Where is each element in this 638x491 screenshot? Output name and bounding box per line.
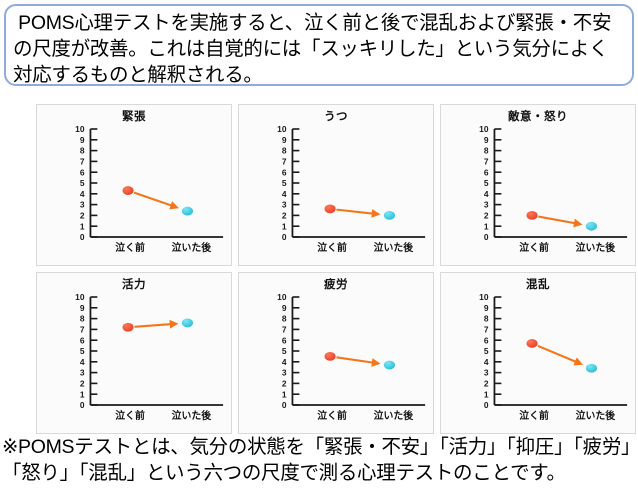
svg-text:10: 10 xyxy=(75,124,85,134)
svg-text:9: 9 xyxy=(80,135,85,145)
svg-text:10: 10 xyxy=(479,124,489,134)
svg-text:4: 4 xyxy=(282,189,287,199)
svg-text:8: 8 xyxy=(484,314,489,324)
svg-text:9: 9 xyxy=(282,135,287,145)
svg-text:5: 5 xyxy=(282,346,287,356)
chart-panel-hostility-anger: 敵意・怒り 109876543210泣く前泣いた後 xyxy=(440,104,636,266)
svg-text:1: 1 xyxy=(80,389,85,399)
svg-text:3: 3 xyxy=(282,368,287,378)
svg-text:10: 10 xyxy=(75,292,85,302)
svg-text:5: 5 xyxy=(484,346,489,356)
svg-text:8: 8 xyxy=(80,146,85,156)
svg-text:4: 4 xyxy=(484,357,489,367)
svg-text:8: 8 xyxy=(282,146,287,156)
svg-text:7: 7 xyxy=(80,156,85,166)
svg-text:2: 2 xyxy=(484,378,489,388)
svg-text:泣く前: 泣く前 xyxy=(317,409,347,422)
svg-text:10: 10 xyxy=(277,124,287,134)
svg-text:2: 2 xyxy=(282,210,287,220)
svg-text:0: 0 xyxy=(484,232,489,242)
svg-text:9: 9 xyxy=(484,303,489,313)
svg-text:6: 6 xyxy=(282,335,287,345)
svg-text:3: 3 xyxy=(80,368,85,378)
svg-text:3: 3 xyxy=(80,200,85,210)
footer-note: ※POMSテストとは、気分の状態を「緊張・不安」「活力」「抑圧」「疲労」「怒り」… xyxy=(2,434,636,486)
svg-text:6: 6 xyxy=(80,335,85,345)
svg-text:6: 6 xyxy=(282,167,287,177)
svg-text:2: 2 xyxy=(80,378,85,388)
svg-text:7: 7 xyxy=(80,324,85,334)
svg-text:0: 0 xyxy=(80,232,85,242)
svg-text:5: 5 xyxy=(282,178,287,188)
svg-text:泣く前: 泣く前 xyxy=(519,409,549,422)
svg-text:2: 2 xyxy=(80,210,85,220)
svg-text:6: 6 xyxy=(80,167,85,177)
svg-text:5: 5 xyxy=(484,178,489,188)
svg-text:10: 10 xyxy=(277,292,287,302)
svg-text:泣いた後: 泣いた後 xyxy=(172,241,213,254)
svg-text:8: 8 xyxy=(282,314,287,324)
svg-text:8: 8 xyxy=(484,146,489,156)
svg-text:0: 0 xyxy=(282,400,287,410)
svg-text:泣く前: 泣く前 xyxy=(519,241,549,254)
svg-text:6: 6 xyxy=(484,167,489,177)
svg-text:0: 0 xyxy=(484,400,489,410)
svg-text:1: 1 xyxy=(484,389,489,399)
svg-text:泣く前: 泣く前 xyxy=(115,241,145,254)
svg-text:1: 1 xyxy=(282,221,287,231)
chart-panel-fatigue: 疲労 109876543210泣く前泣いた後 xyxy=(238,272,434,434)
chart-plot-area: 109876543210泣く前泣いた後 xyxy=(239,289,433,434)
svg-text:0: 0 xyxy=(80,400,85,410)
svg-text:3: 3 xyxy=(282,200,287,210)
svg-text:泣く前: 泣く前 xyxy=(115,409,145,422)
svg-text:4: 4 xyxy=(80,357,85,367)
svg-text:1: 1 xyxy=(282,389,287,399)
svg-text:4: 4 xyxy=(484,189,489,199)
svg-text:泣いた後: 泣いた後 xyxy=(172,409,213,422)
svg-text:泣いた後: 泣いた後 xyxy=(576,241,617,254)
chart-panel-vigor: 活力 109876543210泣く前泣いた後 xyxy=(36,272,232,434)
svg-text:7: 7 xyxy=(282,156,287,166)
svg-text:5: 5 xyxy=(80,178,85,188)
svg-text:泣いた後: 泣いた後 xyxy=(576,409,617,422)
svg-text:4: 4 xyxy=(80,189,85,199)
chart-panel-tension: 緊張 109876543210泣く前泣いた後 xyxy=(36,104,232,266)
svg-text:3: 3 xyxy=(484,368,489,378)
svg-text:5: 5 xyxy=(80,346,85,356)
svg-text:3: 3 xyxy=(484,200,489,210)
svg-text:泣いた後: 泣いた後 xyxy=(374,409,415,422)
chart-panel-confusion: 混乱 109876543210泣く前泣いた後 xyxy=(440,272,636,434)
svg-text:9: 9 xyxy=(282,303,287,313)
svg-text:4: 4 xyxy=(282,357,287,367)
svg-text:7: 7 xyxy=(484,324,489,334)
svg-text:9: 9 xyxy=(80,303,85,313)
chart-plot-area: 109876543210泣く前泣いた後 xyxy=(441,121,635,266)
svg-text:6: 6 xyxy=(484,335,489,345)
chart-plot-area: 109876543210泣く前泣いた後 xyxy=(239,121,433,266)
svg-text:2: 2 xyxy=(282,378,287,388)
svg-text:泣く前: 泣く前 xyxy=(317,241,347,254)
svg-text:8: 8 xyxy=(80,314,85,324)
svg-text:泣いた後: 泣いた後 xyxy=(374,241,415,254)
header-text: POMS心理テストを実施すると、泣く前と後で混乱および緊張・不安の尺度が改善。こ… xyxy=(13,10,625,88)
svg-text:7: 7 xyxy=(484,156,489,166)
svg-text:7: 7 xyxy=(282,324,287,334)
chart-plot-area: 109876543210泣く前泣いた後 xyxy=(37,121,231,266)
svg-text:2: 2 xyxy=(484,210,489,220)
svg-text:9: 9 xyxy=(484,135,489,145)
svg-text:0: 0 xyxy=(282,232,287,242)
chart-plot-area: 109876543210泣く前泣いた後 xyxy=(441,289,635,434)
chart-panel-depression: うつ 109876543210泣く前泣いた後 xyxy=(238,104,434,266)
chart-grid: 緊張 109876543210泣く前泣いた後 うつ 109876543210泣く… xyxy=(36,104,636,436)
chart-plot-area: 109876543210泣く前泣いた後 xyxy=(37,289,231,434)
svg-text:10: 10 xyxy=(479,292,489,302)
header-callout-box: POMS心理テストを実施すると、泣く前と後で混乱および緊張・不安の尺度が改善。こ… xyxy=(4,4,634,86)
svg-text:1: 1 xyxy=(484,221,489,231)
svg-text:1: 1 xyxy=(80,221,85,231)
